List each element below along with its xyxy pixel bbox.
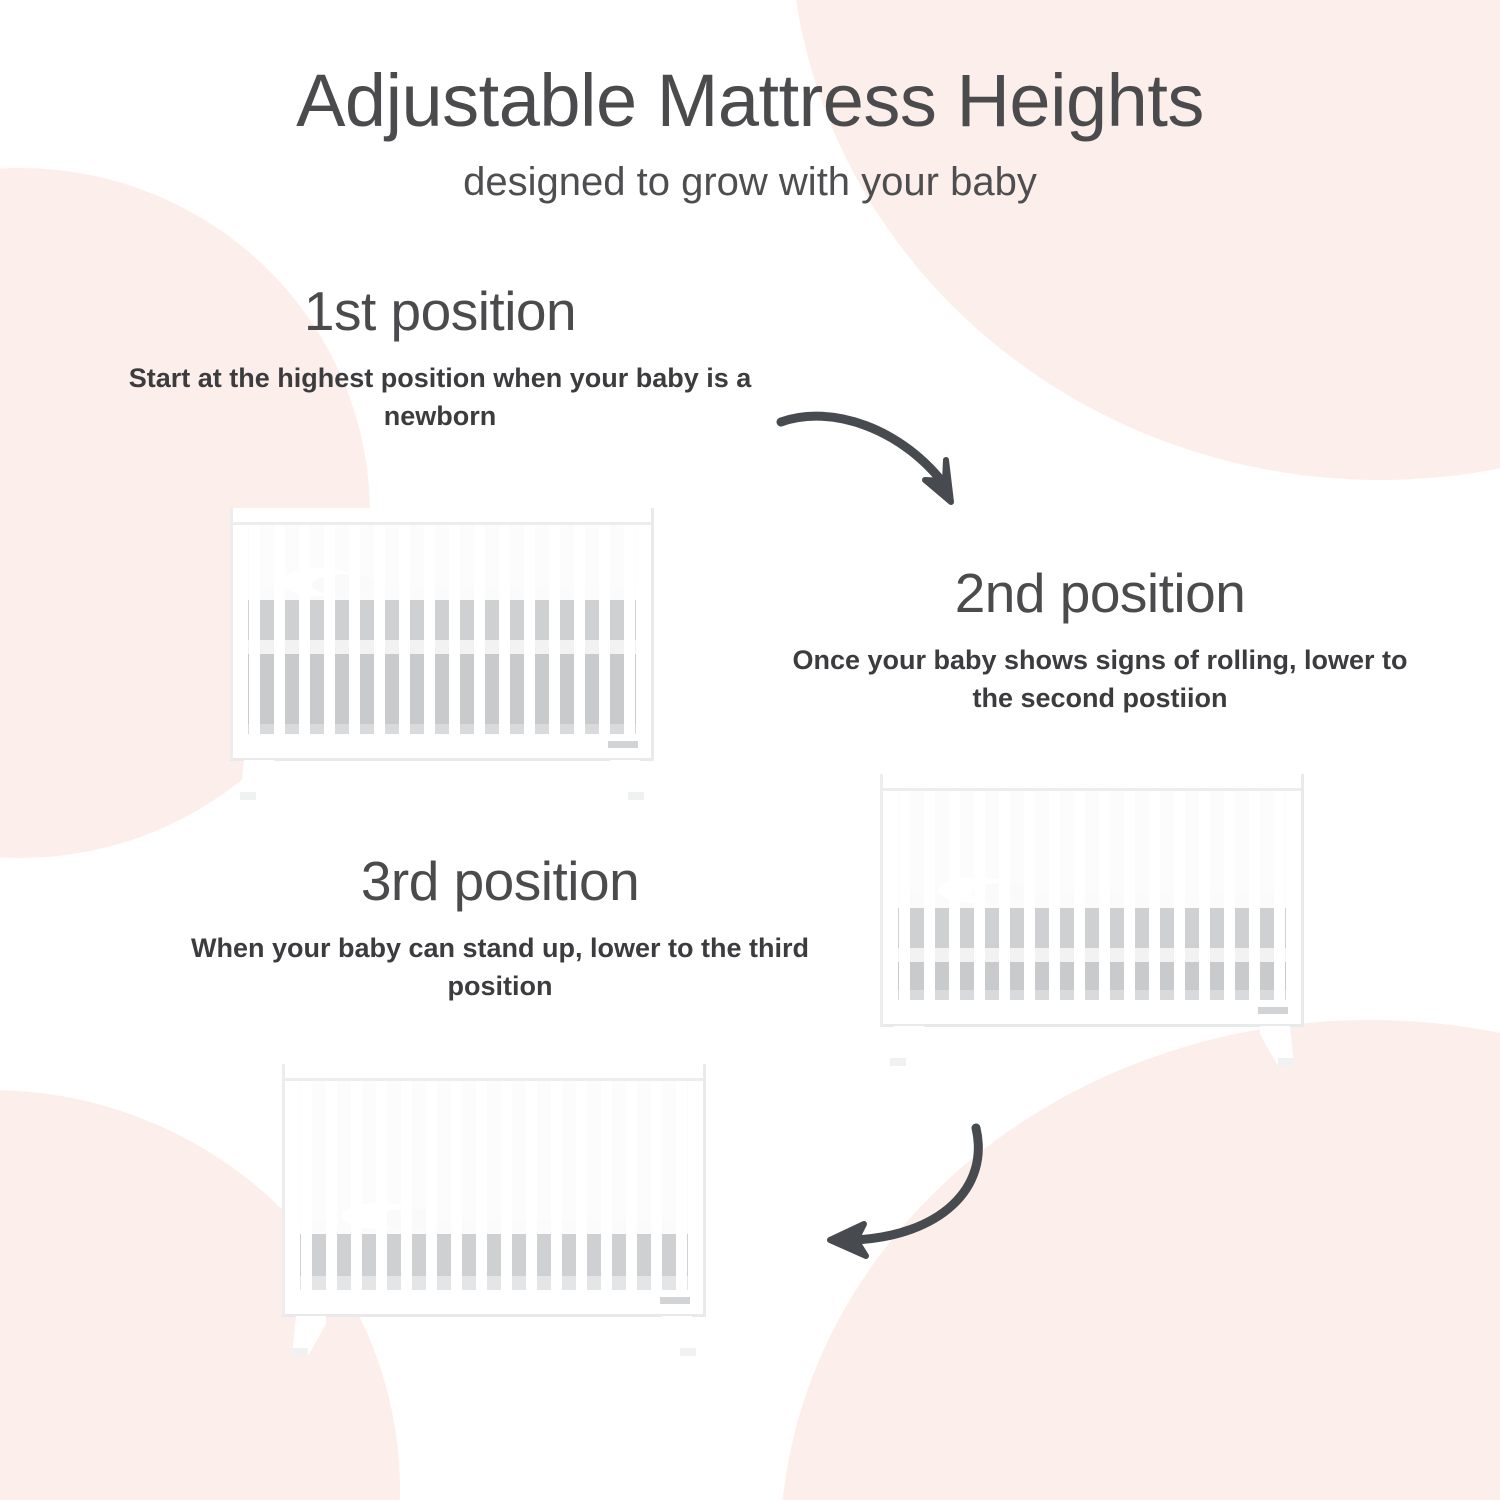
position-1-title: 1st position xyxy=(120,283,760,341)
position-1-description: Start at the highest position when your … xyxy=(120,359,760,436)
brand-logo-mark xyxy=(660,1297,690,1304)
page-title: Adjustable Mattress Heights xyxy=(0,64,1500,138)
curved-arrow-down-left-icon xyxy=(800,1118,1030,1283)
crib-illustration-position-1 xyxy=(216,500,668,810)
position-2-description: Once your baby shows signs of rolling, l… xyxy=(790,641,1410,718)
curved-arrow-down-right-icon xyxy=(775,398,1005,533)
infographic-page: Adjustable Mattress Heights designed to … xyxy=(0,0,1500,1500)
brand-logo-mark xyxy=(1258,1007,1288,1014)
position-3-title: 3rd position xyxy=(170,853,830,911)
position-block-2: 2nd position Once your baby shows signs … xyxy=(790,565,1410,717)
position-2-title: 2nd position xyxy=(790,565,1410,623)
background-blob-bottom-right xyxy=(780,1020,1500,1500)
brand-logo-mark xyxy=(608,741,638,748)
crib-illustration-position-3 xyxy=(268,1056,720,1366)
crib-illustration-position-2 xyxy=(866,766,1318,1076)
header: Adjustable Mattress Heights designed to … xyxy=(0,64,1500,205)
position-block-1: 1st position Start at the highest positi… xyxy=(120,283,760,435)
position-3-description: When your baby can stand up, lower to th… xyxy=(170,929,830,1006)
page-subtitle: designed to grow with your baby xyxy=(0,160,1500,205)
position-block-3: 3rd position When your baby can stand up… xyxy=(170,853,830,1005)
